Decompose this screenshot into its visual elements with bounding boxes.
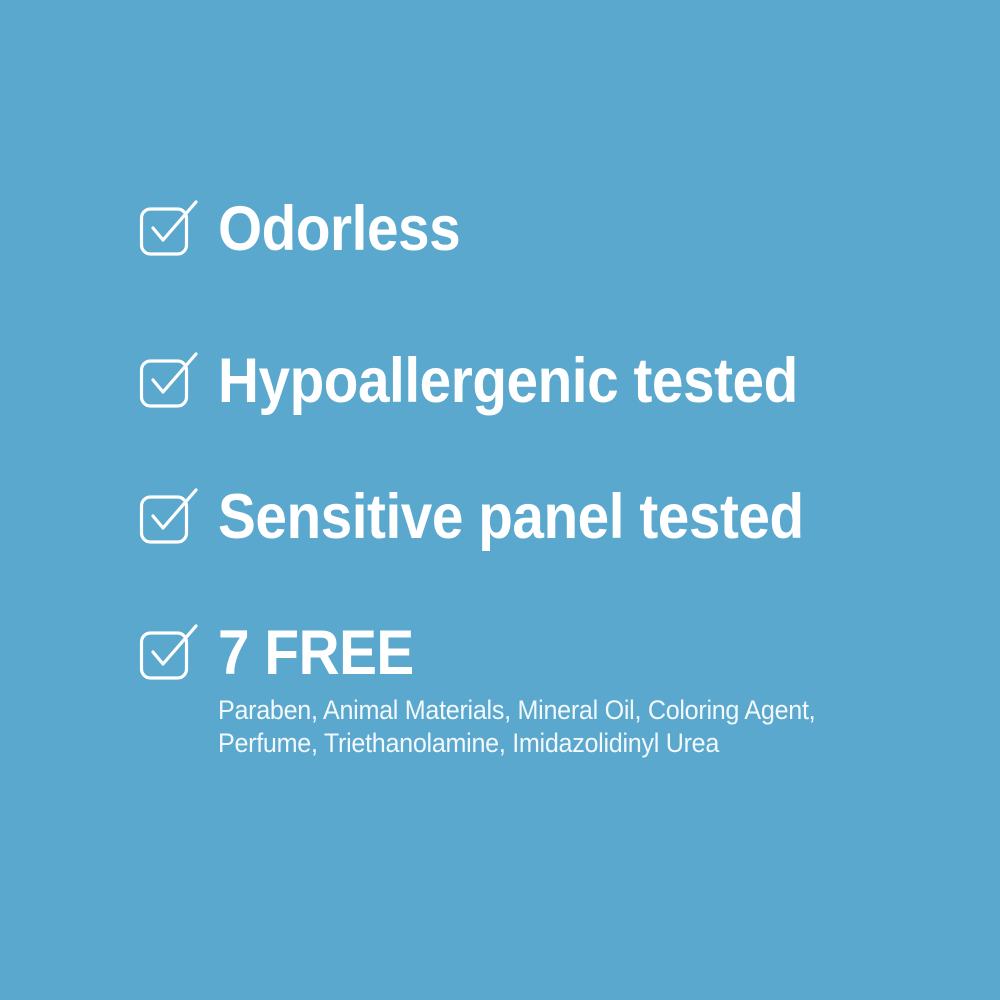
feature-sub-list: Paraben, Animal Materials, Mineral Oil, … (218, 694, 860, 760)
feature-item-sensitive-panel-tested: Sensitive panel tested (138, 484, 938, 550)
feature-item-hypoallergenic-tested: Hypoallergenic tested (138, 348, 938, 414)
feature-content: Hypoallergenic tested (218, 348, 862, 414)
feature-label: Hypoallergenic tested (218, 348, 798, 414)
checked-checkbox-icon (138, 200, 200, 262)
feature-content: 7 FREE Paraben, Animal Materials, Minera… (218, 620, 860, 760)
feature-item-odorless: Odorless (138, 196, 938, 262)
feature-sub-line: Perfume, Triethanolamine, Imidazolidinyl… (218, 727, 815, 760)
feature-item-7-free: 7 FREE Paraben, Animal Materials, Minera… (138, 620, 938, 760)
feature-label: Odorless (218, 196, 460, 262)
feature-poster: Odorless Hypoallergenic tested (0, 0, 1000, 1000)
checked-checkbox-icon (138, 488, 200, 550)
checked-checkbox-icon (138, 352, 200, 414)
feature-content: Odorless (218, 196, 487, 262)
feature-sub-line: Paraben, Animal Materials, Mineral Oil, … (218, 694, 815, 727)
feature-label: 7 FREE (218, 620, 796, 686)
checked-checkbox-icon (138, 624, 200, 686)
feature-label: Sensitive panel tested (218, 484, 804, 550)
feature-list: Odorless Hypoallergenic tested (138, 196, 938, 760)
feature-content: Sensitive panel tested (218, 484, 869, 550)
